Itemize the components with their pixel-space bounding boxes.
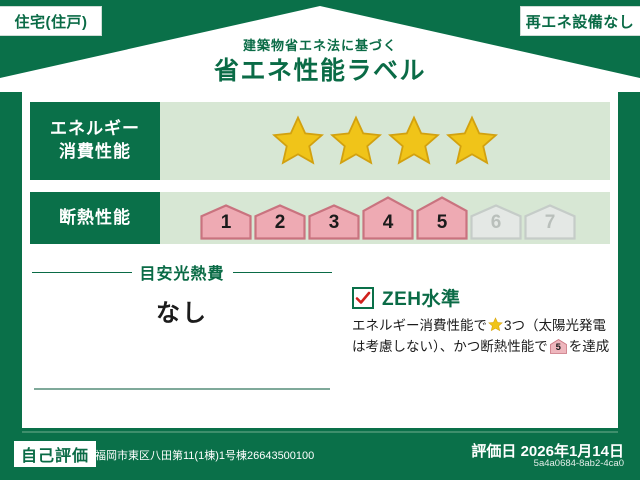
badge-renewable-energy-text: 再エネ設備なし bbox=[526, 11, 635, 32]
row-energy-label-line1: エネルギー bbox=[50, 119, 140, 138]
property-address: 福岡市東区八田第11(1棟)1号棟26643500100 bbox=[95, 447, 314, 463]
badge-building-type: 住宅(住戸) bbox=[0, 6, 102, 36]
label-title: 建築物省エネ法に基づく 省エネ性能ラベル bbox=[0, 38, 640, 87]
self-evaluation-badge: 自己評価 bbox=[14, 441, 96, 467]
check-icon bbox=[355, 290, 371, 306]
badge-renewable-energy: 再エネ設備なし bbox=[520, 6, 640, 36]
star-icon bbox=[488, 317, 503, 332]
row-energy-performance-label: エネルギー 消費性能 bbox=[30, 102, 160, 180]
row-energy-performance-body bbox=[160, 102, 610, 180]
zeh-checkbox[interactable] bbox=[352, 287, 374, 309]
insulation-level-number: 1 bbox=[200, 212, 252, 234]
insulation-level-number: 6 bbox=[470, 212, 522, 234]
utility-cost-heading: 目安光熱費 bbox=[32, 260, 332, 284]
insulation-level-7: 7 bbox=[524, 204, 576, 240]
insulation-level-6: 6 bbox=[470, 204, 522, 240]
zeh-title: ZEH水準 bbox=[382, 284, 461, 311]
row-energy-performance: エネルギー 消費性能 bbox=[30, 102, 610, 180]
row-insulation-label: 断熱性能 bbox=[30, 192, 160, 244]
insulation-level-5: 5 bbox=[416, 196, 468, 240]
inline-house-badge-number: 5 bbox=[550, 342, 567, 354]
star-icon bbox=[329, 114, 383, 168]
title-subtitle: 建築物省エネ法に基づく bbox=[0, 38, 640, 54]
insulation-level-4: 4 bbox=[362, 196, 414, 240]
self-evaluation-text: 自己評価 bbox=[21, 442, 89, 466]
panel-divider bbox=[34, 388, 330, 390]
star-icon bbox=[271, 114, 325, 168]
heading-rule-right bbox=[233, 272, 333, 273]
insulation-level-number: 7 bbox=[524, 212, 576, 234]
zeh-heading: ZEH水準 bbox=[352, 284, 612, 311]
zeh-desc-part4: を達成 bbox=[569, 339, 610, 354]
insulation-level-number: 5 bbox=[416, 212, 468, 234]
inline-house-badge: 5 bbox=[550, 339, 567, 354]
insulation-level-number: 4 bbox=[362, 212, 414, 234]
zeh-block: ZEH水準 エネルギー消費性能で 3つ（太陽光発電は考慮しない）、かつ断熱性能で… bbox=[352, 284, 612, 358]
main-panel: エネルギー 消費性能 断熱性能 1234567 目安光熱費 なし bbox=[22, 88, 618, 428]
star-rating bbox=[271, 114, 499, 168]
title-main: 省エネ性能ラベル bbox=[0, 56, 640, 87]
insulation-level-1: 1 bbox=[200, 204, 252, 240]
row-insulation-performance: 断熱性能 1234567 bbox=[30, 192, 610, 244]
footer-divider bbox=[22, 431, 618, 433]
star-icon bbox=[445, 114, 499, 168]
utility-cost-value: なし bbox=[32, 293, 332, 328]
zeh-desc-part2: 3つ（太陽光発電 bbox=[504, 318, 606, 333]
zeh-description: エネルギー消費性能で 3つ（太陽光発電は考慮しない）、かつ断熱性能で 5 を達成 bbox=[352, 316, 612, 358]
label-uid: 5a4a0684-8ab2-4ca0 bbox=[534, 458, 624, 469]
row-energy-label-line2: 消費性能 bbox=[59, 142, 131, 161]
zeh-desc-part1: エネルギー消費性能で bbox=[352, 318, 487, 333]
insulation-level-3: 3 bbox=[308, 204, 360, 240]
badge-building-type-text: 住宅(住戸) bbox=[15, 11, 88, 32]
insulation-level-number: 2 bbox=[254, 212, 306, 234]
row-insulation-body: 1234567 bbox=[160, 192, 610, 244]
insulation-scale: 1234567 bbox=[194, 196, 576, 240]
star-icon bbox=[387, 114, 441, 168]
insulation-level-2: 2 bbox=[254, 204, 306, 240]
insulation-level-number: 3 bbox=[308, 212, 360, 234]
utility-cost-heading-text: 目安光熱費 bbox=[140, 260, 225, 284]
zeh-desc-part3: は考慮しない）、かつ断熱性能で bbox=[352, 339, 548, 354]
energy-performance-label: 住宅(住戸) 再エネ設備なし 建築物省エネ法に基づく 省エネ性能ラベル エネルギ… bbox=[0, 0, 640, 480]
heading-rule-left bbox=[32, 272, 132, 273]
